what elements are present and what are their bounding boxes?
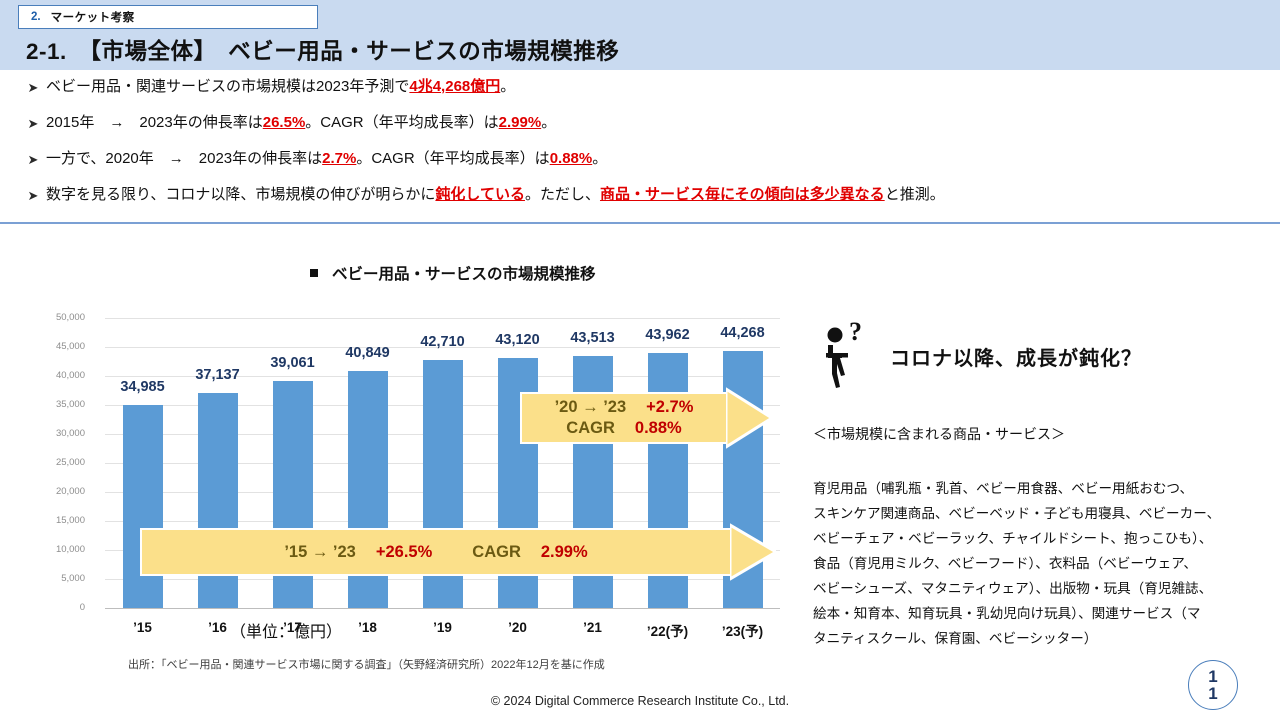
chart-bar-value-label: 39,061: [253, 355, 333, 371]
chart-bar: [123, 405, 163, 608]
bullet-arrow-icon: ➤: [20, 150, 46, 169]
y-axis-tick-label: 30,000: [19, 428, 85, 439]
bullet-text: 一方で、2020年 → 2023年の伸長率は2.7%。CAGR（年平均成長率）は…: [46, 150, 607, 168]
svg-text:?: ?: [849, 318, 862, 346]
header-divider: [0, 222, 1280, 224]
annotation-arrow-cagr-2015-2023: ’15 → ’23+26.5%CAGR2.99%: [140, 528, 772, 576]
thinking-person-icon: ?: [818, 318, 874, 390]
chart-bar-value-label: 44,268: [703, 325, 783, 341]
y-axis-tick-label: 5,000: [19, 573, 85, 584]
right-panel-body-line: 食品（育児用ミルク、ベビーフード）、衣料品（ベビーウェア、: [813, 551, 1280, 576]
bullet-highlight: 0.88%: [550, 150, 593, 167]
x-axis-tick-label: ’23(予): [698, 620, 788, 640]
source-note: 出所：「ベビー用品・関連サービス市場に関する調査」（矢野経済研究所）2022年1…: [128, 656, 605, 672]
right-panel-body-line: 育児用品（哺乳瓶・乳首、ベビー用食器、ベビー用紙おむつ、: [813, 476, 1280, 501]
annotation-cagr-value: 0.88%: [635, 419, 682, 437]
chart-bar-value-label: 43,962: [628, 327, 708, 343]
right-panel-body: 育児用品（哺乳瓶・乳首、ベビー用食器、ベビー用紙おむつ、スキンケア関連商品、ベビ…: [813, 476, 1280, 651]
bullet-item: ➤ベビー用品・関連サービスの市場規模は2023年予測で4兆4,268億円。: [20, 78, 1270, 97]
annotation-growth: +26.5%: [376, 543, 432, 561]
bullet-text: 数字を見る限り、コロナ以降、市場規模の伸びが明らかに鈍化している。ただし、商品・…: [46, 186, 945, 204]
y-axis-tick-label: 20,000: [19, 486, 85, 497]
annotation-period: ’20 → ’23: [555, 398, 627, 416]
bullet-highlight: 4兆4,268億円: [409, 78, 500, 95]
section-tab-number: 2.: [31, 11, 41, 23]
y-axis-tick-label: 0: [19, 602, 85, 613]
annotation-line-1: ’20 → ’23+2.7%: [555, 397, 694, 418]
copyright-text: © 2024 Digital Commerce Research Institu…: [0, 694, 1280, 708]
chart-title-text: ベビー用品・サービスの市場規模推移: [332, 266, 596, 283]
chart-bar-value-label: 43,120: [478, 332, 558, 348]
page-number-top: 1: [1208, 668, 1217, 685]
page-number-bottom: 1: [1208, 685, 1217, 702]
chart-title: ベビー用品・サービスの市場規模推移: [310, 262, 596, 284]
bullet-item: ➤一方で、2020年 → 2023年の伸長率は2.7%。CAGR（年平均成長率）…: [20, 150, 1270, 169]
annotation-line-2: CAGR0.88%: [566, 418, 681, 439]
right-panel-body-line: ベビーシューズ、マタニティウェア）、出版物・玩具（育児雑誌、: [813, 576, 1280, 601]
bullet-plain: 。CAGR（年平均成長率）は: [356, 150, 549, 167]
chart-gridline: [105, 608, 780, 609]
bullet-plain: 。: [500, 78, 515, 95]
bullet-plain: 一方で、2020年 → 2023年の伸長率は: [46, 150, 322, 167]
annotation-cagr-label: CAGR: [472, 543, 521, 561]
bullet-highlight: 2.7%: [322, 150, 356, 167]
slide-root: 2. マーケット考察 2-1. 【市場全体】 ベビー用品・サービスの市場規模推移…: [0, 0, 1280, 720]
chart-bar-value-label: 34,985: [103, 379, 183, 395]
bullet-text: ベビー用品・関連サービスの市場規模は2023年予測で4兆4,268億円。: [46, 78, 515, 96]
bullet-item: ➤数字を見る限り、コロナ以降、市場規模の伸びが明らかに鈍化している。ただし、商品…: [20, 186, 1270, 205]
bullet-highlight: 26.5%: [263, 114, 306, 131]
bullet-text: 2015年 → 2023年の伸長率は26.5%。CAGR（年平均成長率）は2.9…: [46, 114, 556, 132]
bullet-plain: と推測。: [885, 186, 945, 203]
bullet-item: ➤2015年 → 2023年の伸長率は26.5%。CAGR（年平均成長率）は2.…: [20, 114, 1270, 133]
right-panel-body-line: ベビーチェア・ベビーラック、チャイルドシート、抱っこひも）、: [813, 526, 1280, 551]
chart-bar-value-label: 43,513: [553, 330, 633, 346]
annotation-cagr-label: CAGR: [566, 419, 615, 437]
page-title: 2-1. 【市場全体】 ベビー用品・サービスの市場規模推移: [26, 34, 619, 66]
bullet-plain: 。CAGR（年平均成長率）は: [305, 114, 498, 131]
y-axis-tick-label: 50,000: [19, 312, 85, 323]
y-axis-tick-label: 45,000: [19, 341, 85, 352]
right-panel-headline: コロナ以降、成長が鈍化？: [890, 342, 1142, 371]
bullet-plain: 数字を見る限り、コロナ以降、市場規模の伸びが明らかに: [46, 186, 435, 203]
right-panel-body-line: スキンケア関連商品、ベビーベッド・子ども用寝具、ベビーカー、: [813, 501, 1280, 526]
section-tab-label: マーケット考察: [51, 9, 135, 25]
section-tab[interactable]: 2. マーケット考察: [18, 5, 318, 29]
arrow-head-icon: [726, 386, 772, 450]
bullet-arrow-icon: ➤: [20, 78, 46, 97]
annotation-cagr-value: 2.99%: [541, 543, 588, 561]
right-panel-body-line: 絵本・知育本、知育玩具・乳幼児向け玩具）、関連サービス（マ: [813, 601, 1280, 626]
y-axis-tick-label: 10,000: [19, 544, 85, 555]
y-axis-tick-label: 15,000: [19, 515, 85, 526]
bullet-plain: ベビー用品・関連サービスの市場規模は2023年予測で: [46, 78, 409, 95]
bullet-plain: 2015年 → 2023年の伸長率は: [46, 114, 263, 131]
bullet-plain: 。ただし、: [525, 186, 600, 203]
chart-bar-value-label: 37,137: [178, 367, 258, 383]
annotation-growth: +2.7%: [646, 398, 693, 416]
bullet-arrow-icon: ➤: [20, 114, 46, 133]
bullet-highlight: 商品・サービス毎にその傾向は多少異なる: [600, 186, 885, 203]
y-axis-tick-label: 35,000: [19, 399, 85, 410]
y-axis-tick-label: 25,000: [19, 457, 85, 468]
arrow-head-icon: [730, 522, 776, 582]
chart-bar-value-label: 40,849: [328, 345, 408, 361]
bullet-highlight: 2.99%: [499, 114, 542, 131]
right-panel-body-line: タニティスクール、保育園、ベビーシッター）: [813, 626, 1280, 651]
bullet-plain: 。: [541, 114, 556, 131]
page-number-badge: 1 1: [1188, 660, 1238, 710]
bullet-highlight: 鈍化している: [435, 186, 525, 203]
bullet-square-icon: [310, 269, 318, 277]
y-axis-tick-label: 40,000: [19, 370, 85, 381]
right-panel-subhead: ＜市場規模に含まれる商品・サービス＞: [813, 424, 1065, 444]
annotation-arrow-cagr-2020-2023: ’20 → ’23+2.7% CAGR0.88%: [520, 392, 770, 444]
bullet-arrow-icon: ➤: [20, 186, 46, 205]
annotation-period: ’15 → ’23: [284, 543, 356, 561]
chart-gridline: [105, 318, 780, 319]
bullet-plain: 。: [592, 150, 607, 167]
chart-bar-value-label: 42,710: [403, 334, 483, 350]
bullet-list: ➤ベビー用品・関連サービスの市場規模は2023年予測で4兆4,268億円。➤20…: [20, 78, 1270, 222]
annotation-line-1: ’15 → ’23+26.5%CAGR2.99%: [284, 542, 587, 563]
